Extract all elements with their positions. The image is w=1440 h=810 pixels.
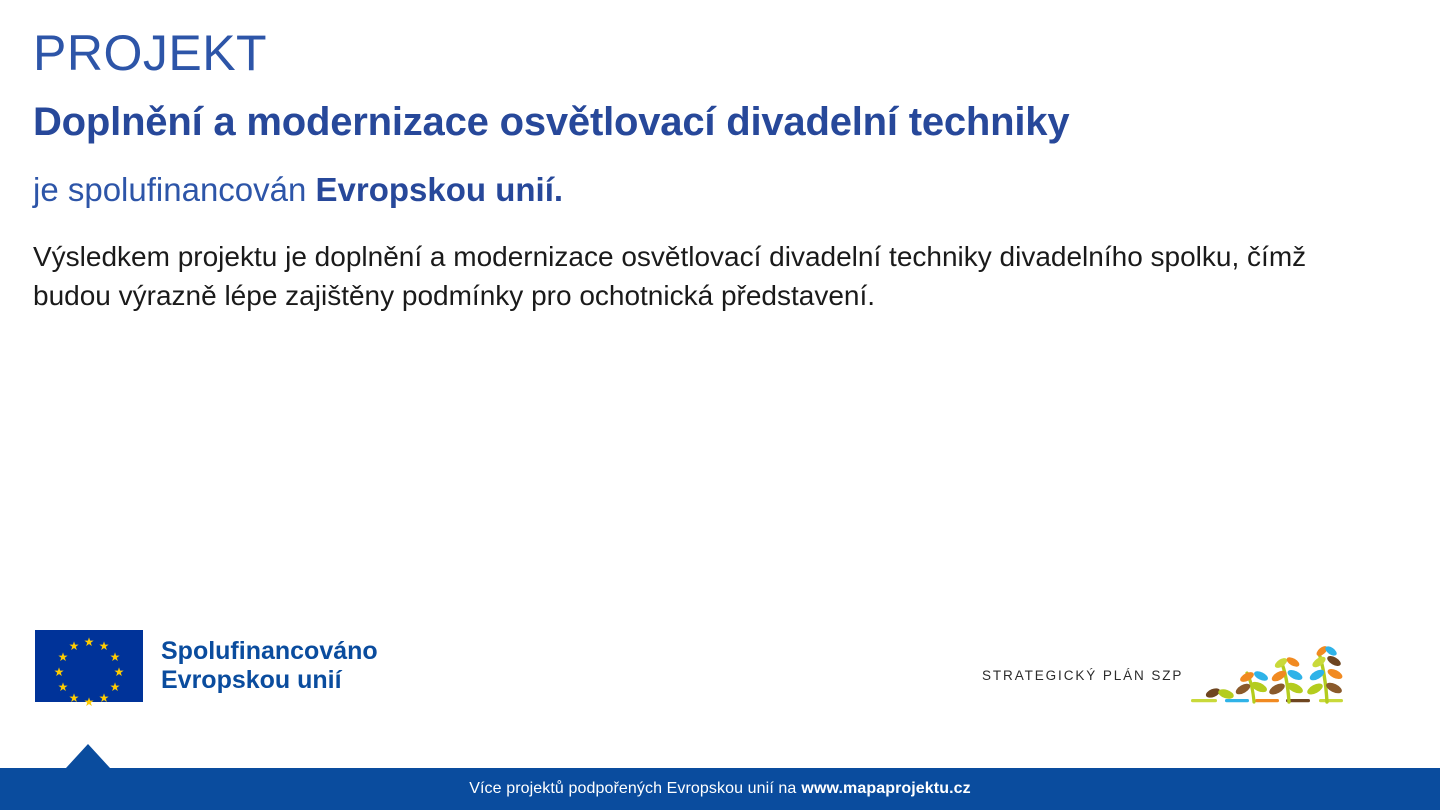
- eu-cofunding-line-2: Evropskou unií: [161, 666, 378, 696]
- slide-root: PROJEKT Doplnění a modernizace osvětlova…: [0, 0, 1440, 810]
- subtitle-regular-part: je spolufinancován: [33, 171, 316, 208]
- subtitle-bold-part: Evropskou unií.: [316, 171, 564, 208]
- eu-cofunding-line-1: Spolufinancováno: [161, 637, 378, 667]
- text-content-block: PROJEKT Doplnění a modernizace osvětlova…: [33, 28, 1363, 316]
- strategic-plan-logo: STRATEGICKÝ PLÁN SZP: [982, 645, 1359, 713]
- page-eyebrow: PROJEKT: [33, 28, 1363, 78]
- page-title: Doplnění a modernizace osvětlovací divad…: [33, 100, 1363, 145]
- eu-cofunding-label: Spolufinancováno Evropskou unií: [161, 637, 378, 696]
- footer-caption: Více projektů podpořených Evropskou unií…: [0, 768, 1440, 810]
- body-paragraph: Výsledkem projektu je doplnění a moderni…: [33, 237, 1323, 317]
- subtitle-line: je spolufinancován Evropskou unií.: [33, 171, 1363, 209]
- footer-caption-text: Více projektů podpořených Evropskou unií…: [469, 780, 796, 798]
- footer-url[interactable]: www.mapaprojektu.cz: [801, 780, 970, 798]
- sprouting-plants-icon: [1191, 645, 1359, 713]
- european-union-flag-icon: [35, 630, 143, 702]
- eu-cofunding-logo: Spolufinancováno Evropskou unií: [35, 630, 378, 702]
- footer-triangle-notch: [66, 744, 110, 768]
- strategic-plan-label: STRATEGICKÝ PLÁN SZP: [982, 668, 1183, 713]
